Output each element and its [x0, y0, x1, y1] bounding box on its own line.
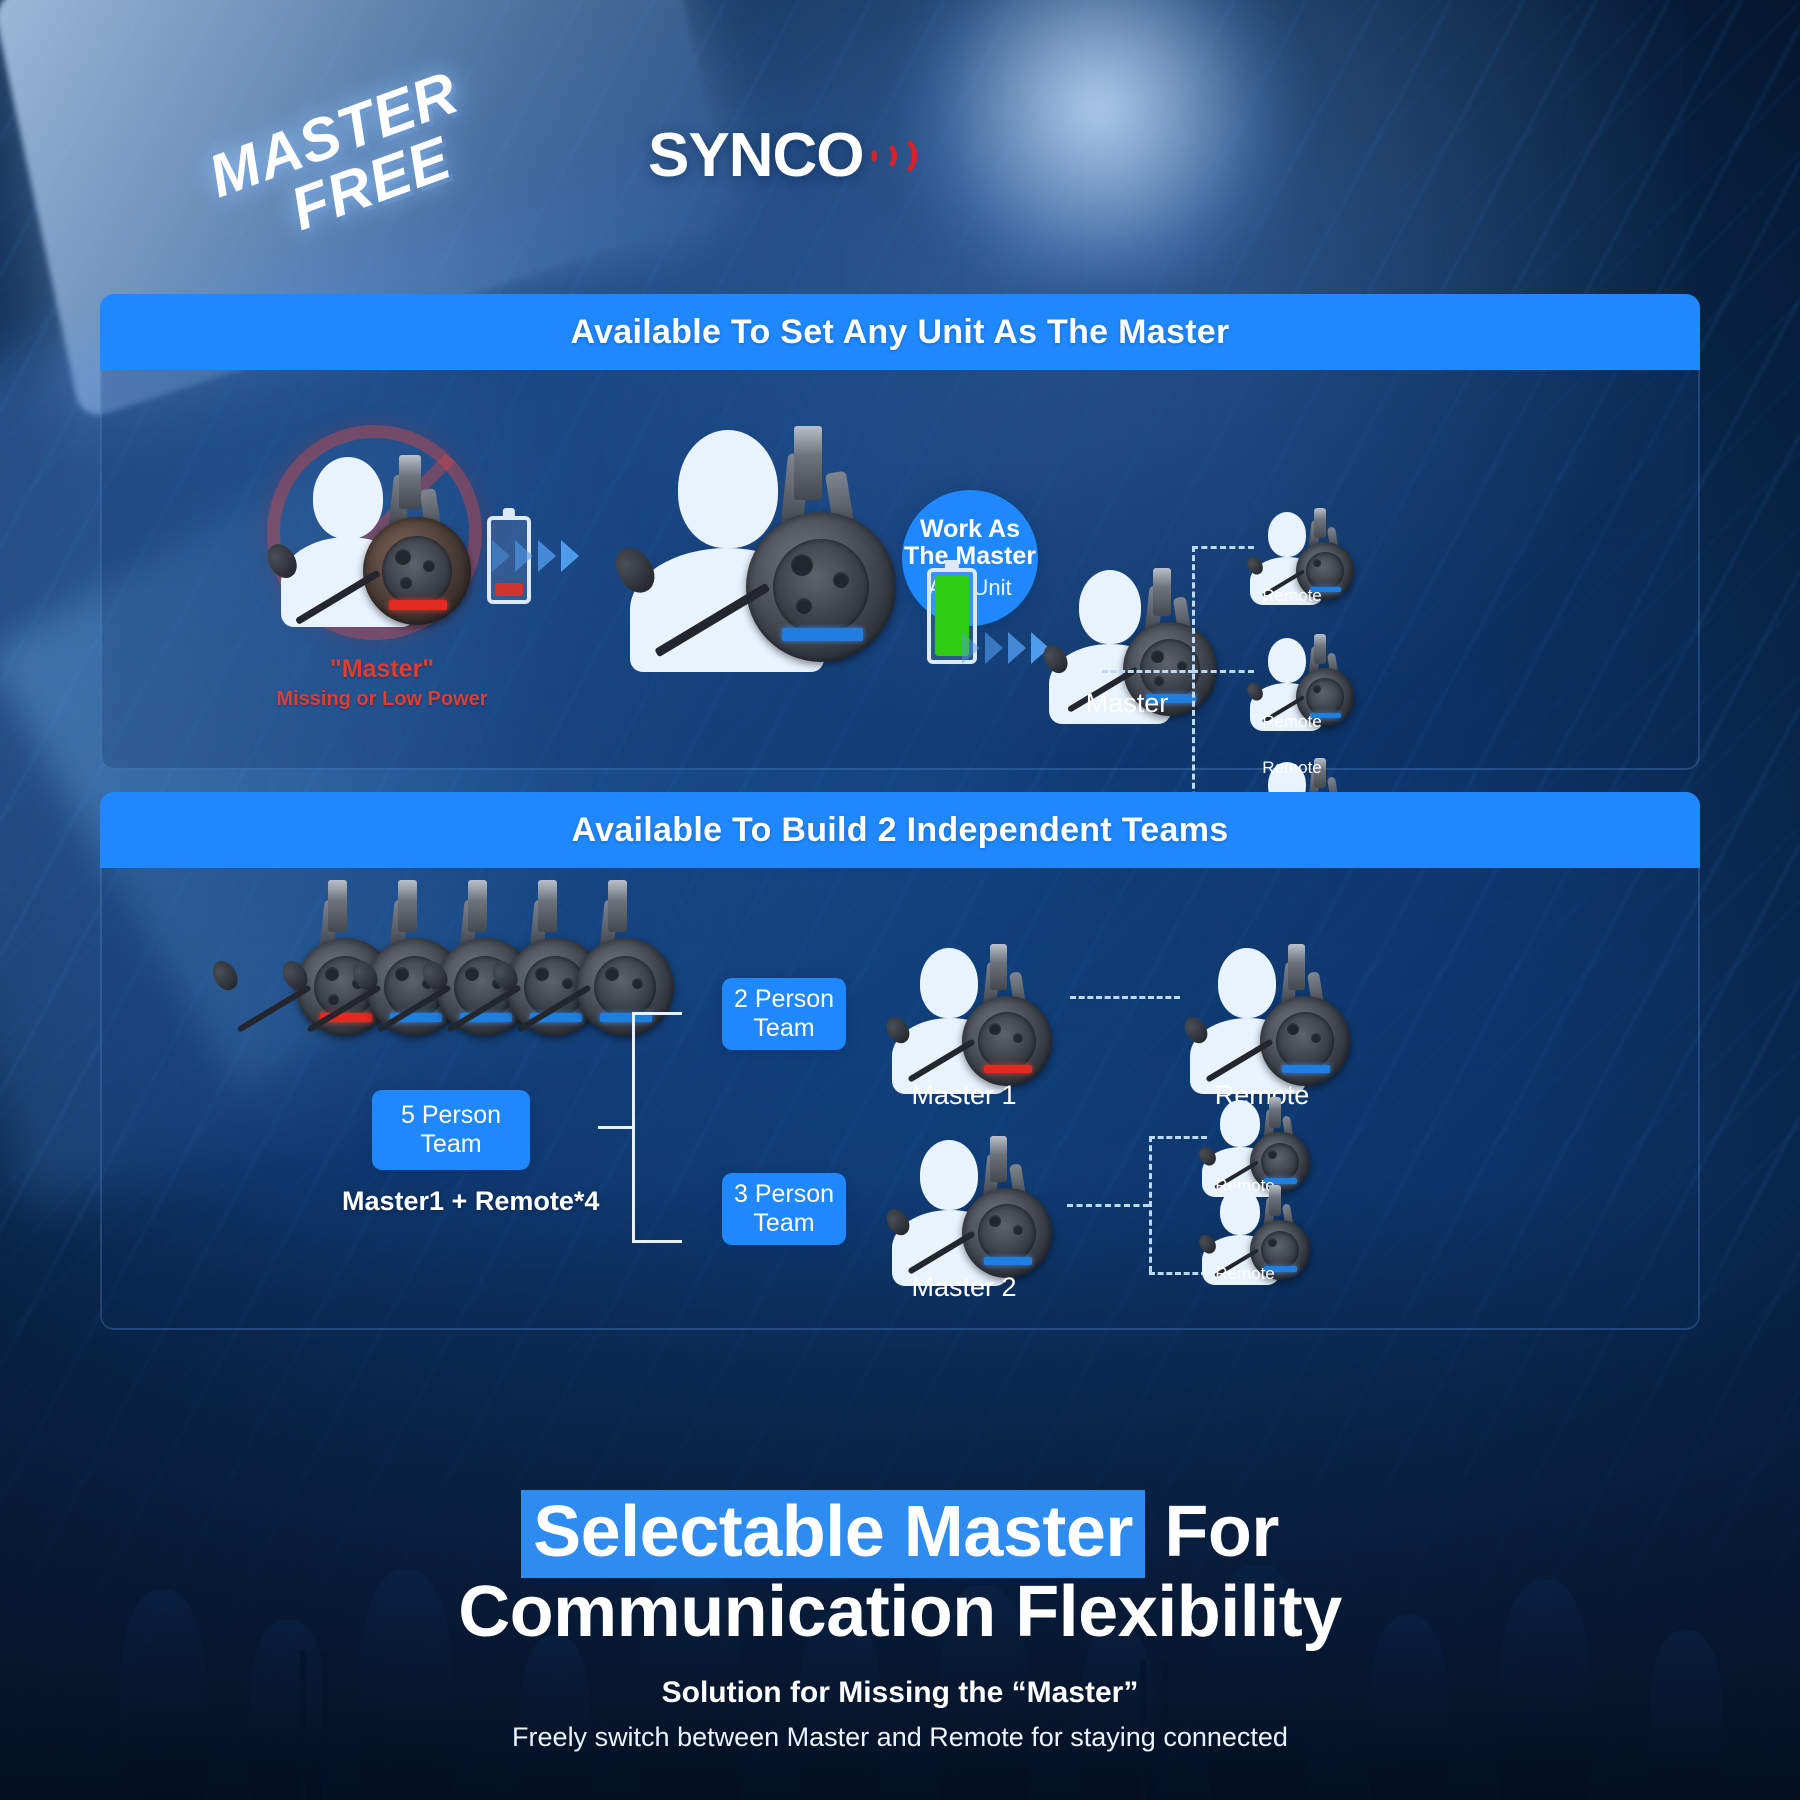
- chip-2-line-2: Team: [753, 1014, 814, 1043]
- chip-3-line-1: 3 Person: [734, 1180, 834, 1209]
- footer-subtitle: Solution for Missing the “Master”: [0, 1676, 1800, 1710]
- team2-remote-label-2: Remote: [1190, 1264, 1300, 1284]
- master-free-stamp: MASTER FREE: [202, 63, 486, 262]
- chip-5-line-2: Team: [420, 1130, 481, 1159]
- chip-5-person-team: 5 Person Team: [372, 1090, 530, 1170]
- chip-3-person-team: 3 Person Team: [722, 1173, 846, 1245]
- team2-master-label: Master 2: [864, 1272, 1064, 1303]
- headset-led-badge: [1282, 1065, 1331, 1073]
- footer-headline-line-2: Communication Flexibility: [0, 1574, 1800, 1650]
- team-split-branch-bottom: [632, 1240, 682, 1243]
- battery-level: [495, 583, 523, 596]
- panel-two-title: Available To Build 2 Independent Teams: [572, 811, 1229, 850]
- footer-headline-line-1: Selectable Master For: [0, 1495, 1800, 1570]
- network-branch-connector-2: [1192, 670, 1254, 673]
- failed-unit-caption-line-2: Missing or Low Power: [252, 688, 512, 711]
- headset-device: [1260, 996, 1350, 1086]
- team2-trunk-connector: [1149, 1136, 1152, 1272]
- headset-device: [746, 512, 896, 662]
- figure-working-master: [622, 430, 922, 660]
- panel-one-header: Available To Set Any Unit As The Master: [100, 294, 1700, 370]
- headset-device: [962, 996, 1052, 1086]
- network-branch-connector-1: [1192, 546, 1254, 549]
- team2-branch-connector-1: [1149, 1136, 1207, 1139]
- network-trunk-connector: [1192, 546, 1195, 816]
- headset-device: [363, 517, 471, 625]
- panel-one-body: "Master" Missing or Low Power: [100, 370, 1700, 770]
- flow-arrows-1: [492, 540, 579, 572]
- network-remote-label-2: Remote: [1237, 712, 1347, 732]
- panel-one-title: Available To Set Any Unit As The Master: [570, 313, 1229, 352]
- headset-device: [962, 1188, 1052, 1278]
- figure-team2-master: [892, 1140, 1042, 1270]
- headset-led-badge: [984, 1065, 1033, 1073]
- panel-two-header: Available To Build 2 Independent Teams: [100, 792, 1700, 868]
- team1-link: [1070, 996, 1180, 999]
- chip-2-person-team: 2 Person Team: [722, 978, 846, 1050]
- network-master-connector: [1102, 670, 1194, 673]
- figure-team2-remote-2: [1202, 1188, 1312, 1270]
- figure-network-remote-1: [1250, 512, 1360, 592]
- chip-3-line-2: Team: [753, 1209, 814, 1238]
- chip-5-line-1: 5 Person: [401, 1101, 501, 1130]
- panel-build-two-teams: Available To Build 2 Independent Teams: [100, 792, 1700, 1330]
- panel-set-any-unit-as-master: Available To Set Any Unit As The Master: [100, 294, 1700, 770]
- figure-team1-master: [892, 948, 1042, 1078]
- footer-headline-highlight: Selectable Master: [521, 1490, 1145, 1578]
- figure-failed-unit: [277, 455, 482, 630]
- headset-led-badge: [389, 600, 447, 610]
- figure-team1-remote: [1190, 948, 1340, 1078]
- callout-line-2: The Master: [904, 542, 1036, 570]
- network-remote-label-3: Remote: [1237, 758, 1347, 778]
- team-split-branch-top: [632, 1012, 682, 1015]
- headset-device-5: [576, 938, 674, 1036]
- network-master-label: Master: [1037, 688, 1217, 719]
- team2-master-connector: [1067, 1204, 1149, 1207]
- headset-pool: [202, 898, 632, 1068]
- footer-tagline: Freely switch between Master and Remote …: [0, 1722, 1800, 1753]
- flow-arrows-2: [962, 632, 1049, 664]
- chip-2-line-1: 2 Person: [734, 985, 834, 1014]
- synco-logo: SYNCO: [648, 120, 901, 191]
- signal-wave-icon: [857, 125, 901, 187]
- network-remote-label-1: Remote: [1237, 586, 1347, 606]
- figure-team2-remote-1: [1202, 1100, 1312, 1182]
- footer-headline-rest: For: [1145, 1492, 1279, 1572]
- headset-led-badge: [782, 628, 863, 642]
- headset-led-badge: [984, 1257, 1033, 1265]
- callout-line-1: Work As: [920, 515, 1020, 543]
- panel-two-body: 5 Person Team Master1 + Remote*4 2 Perso…: [100, 868, 1700, 1330]
- failed-unit-caption: "Master" Missing or Low Power: [252, 655, 512, 711]
- team-split-stem: [598, 1126, 634, 1129]
- pool-composition-note: Master1 + Remote*4: [342, 1186, 562, 1217]
- footer-headline-block: Selectable Master For Communication Flex…: [0, 1495, 1800, 1753]
- failed-unit-caption-line-1: "Master": [252, 655, 512, 684]
- logo-wordmark: SYNCO: [648, 120, 863, 191]
- team1-master-label: Master 1: [864, 1080, 1064, 1111]
- figure-network-remote-2: [1250, 638, 1360, 718]
